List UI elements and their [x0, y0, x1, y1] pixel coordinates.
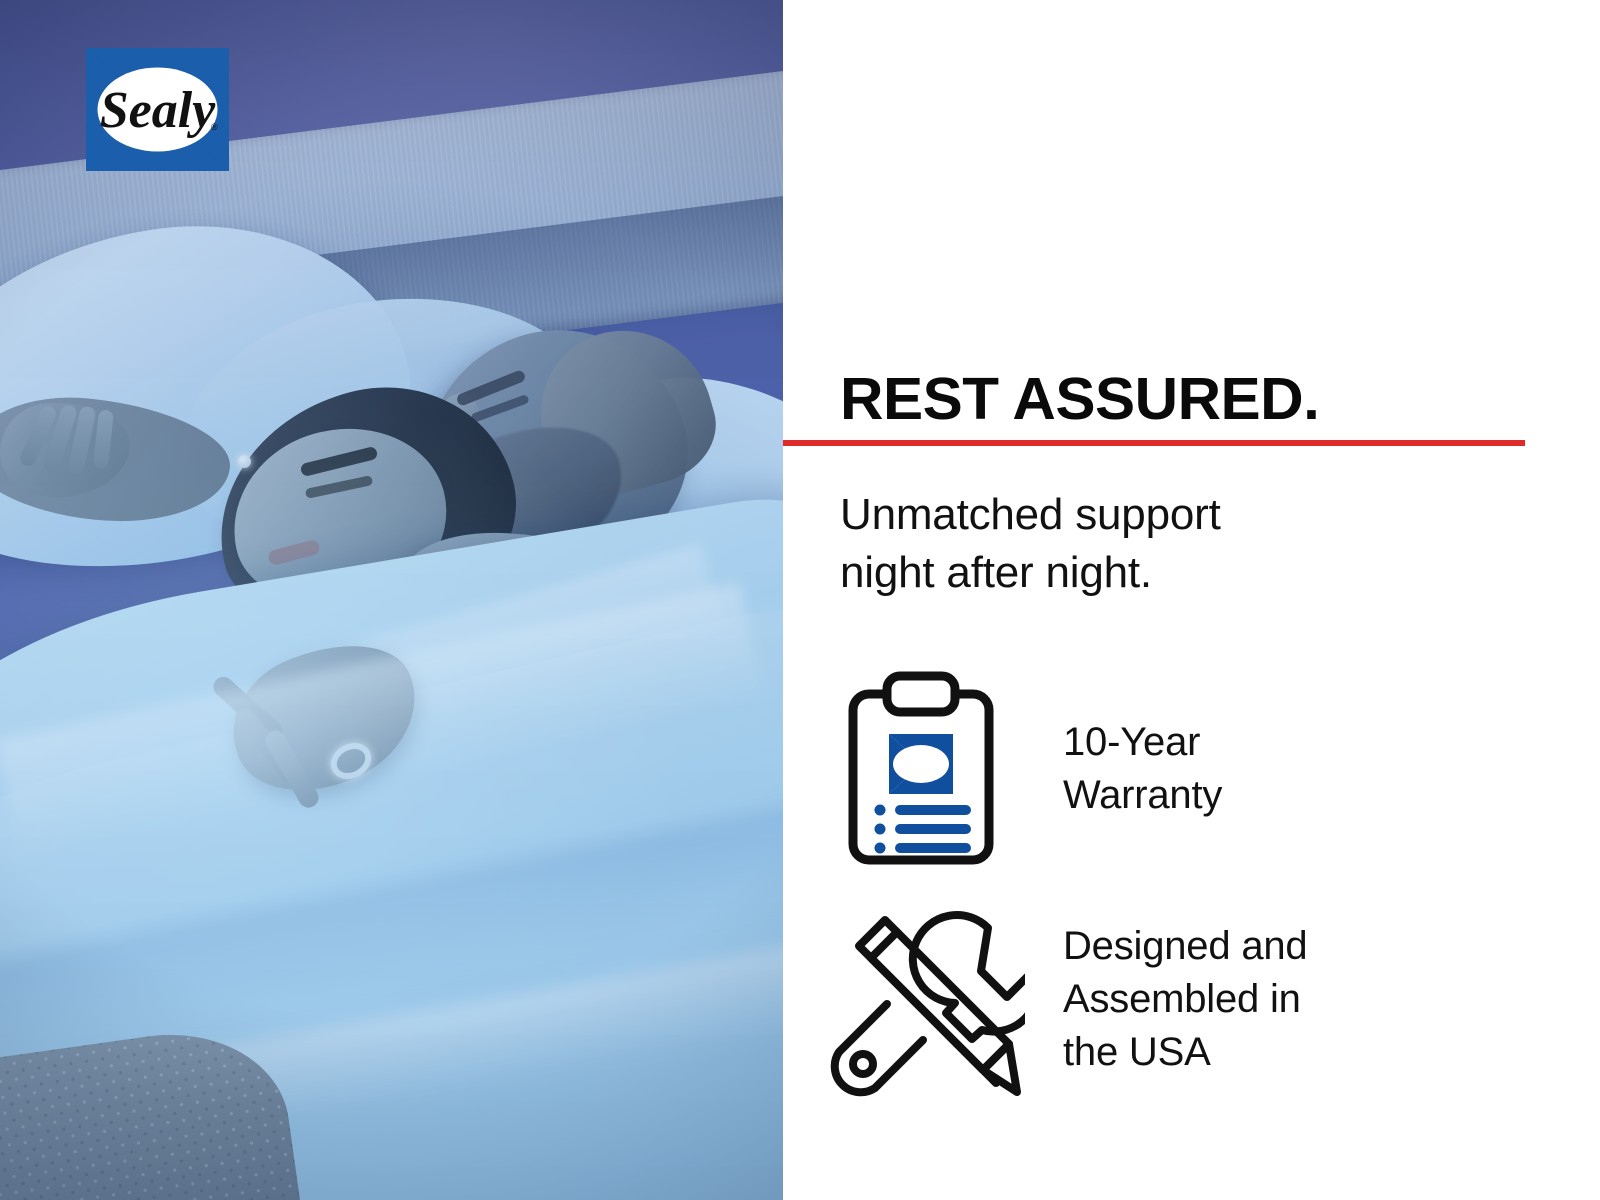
- pencil-wrench-icon: [813, 906, 1025, 1100]
- feature-usa-line-1: Designed and: [1063, 920, 1307, 973]
- subheadline-line-1: Unmatched support: [840, 486, 1221, 544]
- sealy-logo: Sealy ®: [80, 42, 235, 177]
- feature-warranty: 10-Year Warranty: [833, 668, 1222, 868]
- headline: REST ASSURED.: [840, 370, 1319, 429]
- feature-warranty-line-1: 10-Year: [1063, 716, 1222, 769]
- feature-usa-line-2: Assembled in: [1063, 973, 1307, 1026]
- subheadline: Unmatched support night after night.: [840, 486, 1221, 602]
- clipboard-warranty-icon: [833, 668, 1009, 868]
- lifestyle-photo: Sealy ®: [0, 0, 783, 1200]
- subheadline-line-2: night after night.: [840, 544, 1221, 602]
- sealy-wordmark: Sealy: [100, 82, 216, 139]
- registered-mark: ®: [211, 122, 218, 132]
- feature-usa: Designed and Assembled in the USA: [813, 906, 1307, 1100]
- feature-usa-label: Designed and Assembled in the USA: [1063, 920, 1307, 1078]
- advertisement-banner: Sealy ® REST ASSURED. Unmatched support …: [0, 0, 1600, 1200]
- feature-warranty-line-2: Warranty: [1063, 769, 1222, 822]
- copy-panel: REST ASSURED. Unmatched support night af…: [783, 0, 1600, 1200]
- red-divider-rule: [783, 440, 1525, 446]
- feature-usa-line-3: the USA: [1063, 1026, 1307, 1079]
- feature-warranty-label: 10-Year Warranty: [1063, 716, 1222, 822]
- photo-vignette: [0, 0, 783, 1200]
